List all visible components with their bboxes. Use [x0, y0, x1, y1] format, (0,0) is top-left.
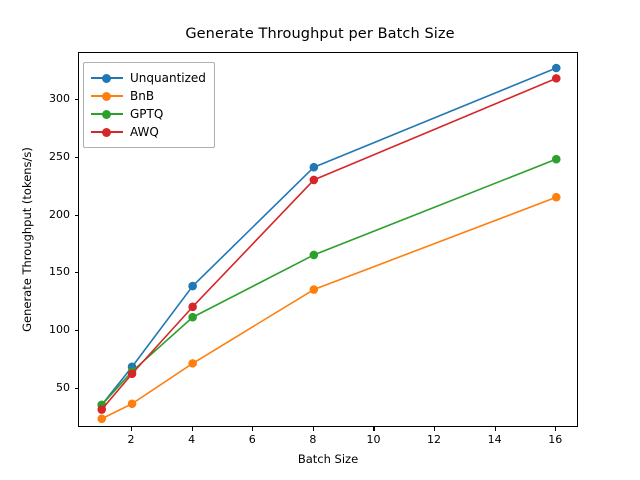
data-point [552, 74, 561, 83]
data-point [310, 251, 319, 260]
y-tick-mark [75, 157, 79, 158]
series-bnb [97, 193, 560, 423]
legend-item-awq: AWQ [91, 123, 206, 141]
legend-label: BnB [130, 89, 154, 103]
y-tick-mark [75, 99, 79, 100]
data-point [188, 282, 197, 291]
x-tick-label: 2 [111, 433, 151, 446]
x-tick-mark [252, 427, 253, 431]
data-point [310, 163, 319, 172]
x-tick-mark [373, 427, 374, 431]
legend-label: AWQ [130, 125, 159, 139]
x-tick-label: 12 [414, 433, 454, 446]
legend-label: Unquantized [130, 71, 206, 85]
x-tick-label: 16 [535, 433, 575, 446]
legend-item-bnb: BnB [91, 87, 206, 105]
legend-marker-dot [102, 74, 111, 83]
legend-marker-dot [102, 110, 111, 119]
chart-figure: Generate Throughput per Batch Size 50100… [0, 0, 640, 480]
series-line [102, 159, 557, 405]
data-point [97, 405, 106, 414]
y-axis-label: Generate Throughput (tokens/s) [18, 52, 36, 427]
legend-swatch [91, 107, 123, 121]
x-tick-mark [192, 427, 193, 431]
series-gptq [97, 155, 560, 409]
data-point [310, 285, 319, 294]
y-tick-mark [75, 388, 79, 389]
y-tick-mark [75, 330, 79, 331]
x-tick-mark [313, 427, 314, 431]
data-point [188, 303, 197, 312]
legend-swatch [91, 71, 123, 85]
legend-item-unquantized: Unquantized [91, 69, 206, 87]
data-point [188, 359, 197, 368]
data-point [552, 193, 561, 202]
data-point [128, 369, 137, 378]
data-point [188, 313, 197, 322]
x-tick-mark [495, 427, 496, 431]
x-tick-label: 4 [172, 433, 212, 446]
chart-title: Generate Throughput per Batch Size [0, 26, 640, 42]
data-point [128, 399, 137, 408]
data-point [552, 155, 561, 164]
x-tick-mark [434, 427, 435, 431]
legend-marker-dot [102, 128, 111, 137]
legend-item-gptq: GPTQ [91, 105, 206, 123]
legend-swatch [91, 89, 123, 103]
legend-label: GPTQ [130, 107, 163, 121]
data-point [310, 176, 319, 185]
legend: UnquantizedBnBGPTQAWQ [83, 62, 215, 148]
series-line [102, 197, 557, 419]
legend-swatch [91, 125, 123, 139]
legend-marker-dot [102, 92, 111, 101]
data-point [552, 64, 561, 73]
y-tick-mark [75, 272, 79, 273]
x-tick-mark [555, 427, 556, 431]
x-tick-label: 10 [353, 433, 393, 446]
x-tick-mark [131, 427, 132, 431]
data-point [97, 414, 106, 423]
x-tick-label: 6 [232, 433, 272, 446]
x-tick-label: 8 [293, 433, 333, 446]
y-tick-mark [75, 215, 79, 216]
x-axis-label: Batch Size [78, 452, 578, 466]
x-tick-label: 14 [475, 433, 515, 446]
